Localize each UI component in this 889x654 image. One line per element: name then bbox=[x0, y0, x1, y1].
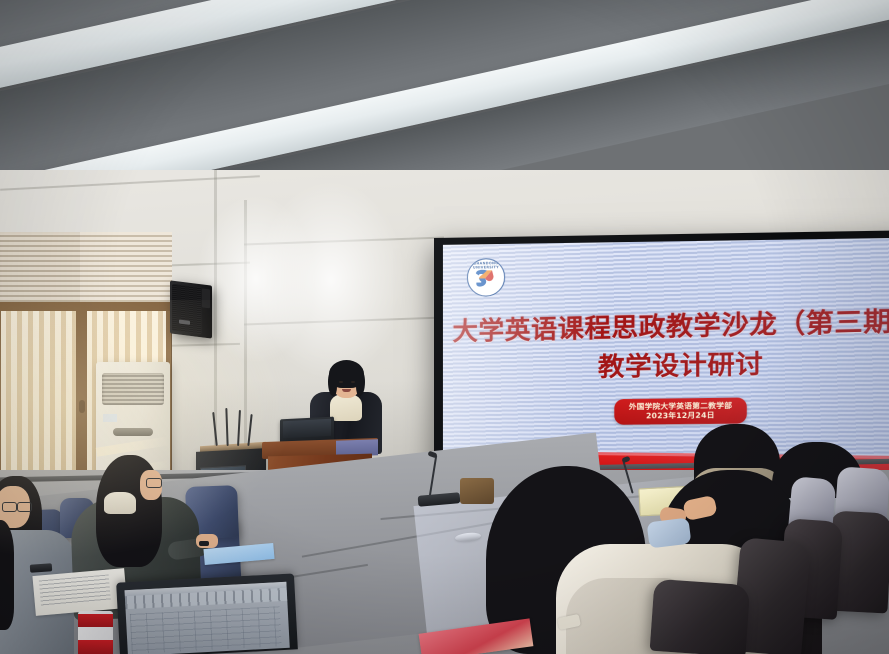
chair-dark[interactable] bbox=[650, 579, 751, 654]
travel-cup-band bbox=[78, 640, 113, 654]
attendee-scarf bbox=[104, 492, 136, 514]
ac-grille bbox=[102, 373, 164, 405]
eyeglasses-icon bbox=[146, 478, 162, 488]
handout-papers[interactable] bbox=[32, 568, 127, 616]
eyeglasses-icon bbox=[2, 502, 17, 512]
conference-room-photo: SHANDONG UNIVERSITY 大学英语课程思政教学沙龙（第三期） 教学… bbox=[0, 0, 889, 654]
ac-sticker bbox=[103, 414, 117, 422]
wicker-basket bbox=[460, 478, 494, 504]
university-logo-icon: SHANDONG UNIVERSITY bbox=[467, 258, 505, 297]
lectern-laptop-screen bbox=[283, 419, 331, 439]
presenter-scarf bbox=[330, 394, 362, 421]
presenter-smile bbox=[342, 389, 351, 392]
sheer-curtain bbox=[0, 310, 78, 490]
foreground-laptop-screen bbox=[125, 582, 290, 654]
window-handle[interactable] bbox=[79, 400, 85, 413]
slide-subtitle-pill: 外国学院大学英语第二教学部 2023年12月24日 bbox=[614, 397, 747, 424]
eyeglasses-icon bbox=[17, 502, 32, 512]
ac-vent bbox=[113, 428, 153, 436]
attendee-hair bbox=[0, 520, 14, 630]
logo-s-mark bbox=[475, 268, 497, 288]
speaker-grille bbox=[172, 284, 202, 335]
presenter-hair bbox=[328, 370, 337, 396]
pen[interactable] bbox=[30, 563, 53, 573]
attendee-sleeve bbox=[647, 518, 692, 549]
slide-date: 2023年12月24日 bbox=[628, 410, 731, 420]
speaker-bracket bbox=[202, 288, 210, 308]
wristwatch bbox=[199, 541, 209, 546]
foreground-laptop[interactable] bbox=[116, 573, 298, 654]
travel-cup-band bbox=[78, 614, 113, 627]
window-blinds[interactable] bbox=[80, 232, 172, 302]
loudspeaker bbox=[170, 280, 212, 338]
